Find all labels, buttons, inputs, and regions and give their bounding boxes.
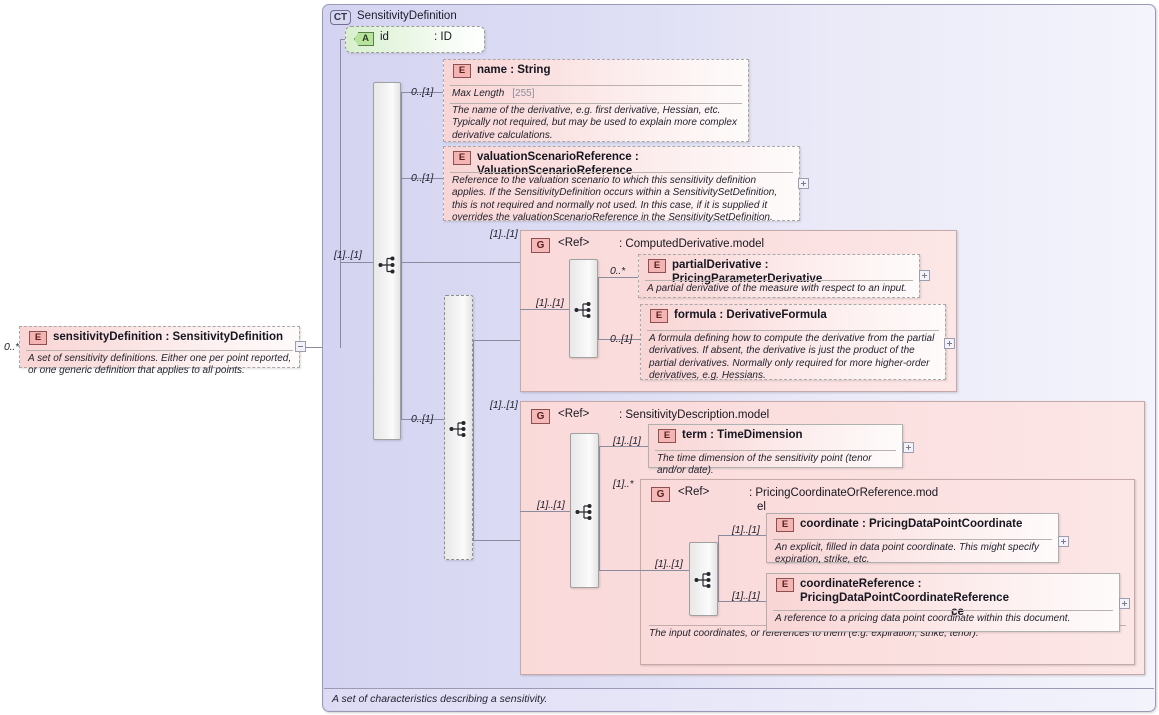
sequence-icon [694, 569, 716, 591]
divider [26, 350, 293, 351]
expand-toggle-coordinate[interactable] [1058, 536, 1069, 547]
element-valuation-scenario-reference[interactable]: E valuationScenarioReference : Valuation… [443, 146, 800, 221]
branch-to-partial-derivative [598, 277, 638, 278]
compositor-sequence-outer[interactable] [373, 82, 401, 440]
compositor-sequence-pcor[interactable] [689, 542, 718, 616]
divider [655, 450, 896, 451]
branch-nested-to-cd [473, 340, 520, 341]
element-header: E valuationScenarioReference : Valuation… [444, 147, 799, 170]
connector-to-cd-sequence [520, 309, 569, 310]
cardinality-name: 0..[1] [411, 86, 433, 98]
expand-toggle-term[interactable] [903, 442, 914, 453]
facet-value: [255] [504, 88, 534, 99]
element-documentation: The time dimension of the sensitivity po… [657, 453, 895, 478]
group-badge-icon: G [531, 238, 550, 253]
sequence-icon [575, 501, 597, 523]
group-type-line2: el [749, 501, 766, 513]
element-header: E partialDerivative : PricingParameterDe… [639, 255, 919, 278]
xsd-diagram-canvas: 0..* E sensitivityDefinition : Sensitivi… [0, 0, 1159, 715]
element-documentation: A formula defining how to compute the de… [649, 333, 938, 382]
element-badge-icon: E [648, 259, 666, 273]
group-type-label: : PricingCoordinateOrReference.mod el [749, 486, 1019, 514]
cardinality-cd-sequence: [1]..[1] [536, 297, 564, 309]
cardinality-formula: 0..[1] [610, 333, 632, 345]
attribute-id[interactable]: A id : ID [345, 26, 485, 53]
cardinality-outer-sequence: [1]..[1] [334, 249, 362, 261]
cardinality-coordinate: [1]..[1] [732, 524, 760, 536]
sequence-icon [378, 254, 400, 276]
divider [773, 610, 1113, 611]
branch-nested-to-sd [473, 540, 520, 541]
element-badge-icon: E [453, 151, 471, 165]
group-ref-label: <Ref> [558, 408, 589, 420]
collapse-toggle-root[interactable] [295, 341, 306, 352]
expand-toggle-valuation-scenario-reference[interactable] [798, 178, 809, 189]
element-header: E coordinateReference : PricingDataPoint… [767, 574, 1119, 605]
branch-trunk-nested [473, 340, 474, 540]
group-badge-icon: G [651, 487, 670, 502]
facet-label: Max Length [452, 88, 504, 99]
element-name[interactable]: E name : String Max Length[255] The name… [443, 59, 749, 142]
cardinality-term: [1]..[1] [613, 435, 641, 447]
element-sensitivity-definition[interactable]: E sensitivityDefinition : SensitivityDef… [19, 326, 300, 368]
element-partial-derivative[interactable]: E partialDerivative : PricingParameterDe… [638, 254, 920, 298]
connector-to-sd-sequence [520, 511, 570, 512]
group-ref-label: <Ref> [678, 486, 709, 498]
element-title: formula : DerivativeFormula [674, 308, 941, 322]
element-coordinate[interactable]: E coordinate : PricingDataPointCoordinat… [766, 513, 1059, 563]
attribute-badge-icon: A [354, 32, 374, 46]
branch-to-computed-derivative [401, 262, 520, 263]
element-documentation: Reference to the valuation scenario to w… [452, 175, 792, 224]
divider [773, 539, 1052, 540]
branch-trunk-sd [599, 446, 600, 570]
cardinality-partial-derivative: 0..* [610, 265, 625, 277]
attribute-type: : ID [434, 31, 452, 43]
element-documentation: A reference to a pricing data point coor… [775, 613, 1112, 625]
element-title-line1: coordinateReference : PricingDataPointCo… [800, 578, 1009, 604]
complex-type-badge-icon: CT [330, 10, 351, 25]
cardinality-valuation-scenario-reference: 0..[1] [411, 172, 433, 184]
cardinality-sd-sequence: [1]..[1] [537, 499, 565, 511]
cardinality-pcor-choice: [1]..[1] [655, 558, 683, 570]
divider [645, 280, 913, 281]
cardinality-coordinate-reference: [1]..[1] [732, 590, 760, 602]
group-type-label: : ComputedDerivative.model [619, 237, 764, 251]
element-header: E coordinate : PricingDataPointCoordinat… [767, 514, 1058, 537]
element-documentation: A partial derivative of the measure with… [647, 283, 912, 295]
element-title: valuationScenarioReference : ValuationSc… [477, 150, 795, 178]
element-badge-icon: E [658, 429, 676, 443]
element-documentation: The name of the derivative, e.g. first d… [452, 105, 741, 142]
divider [647, 330, 939, 331]
branch-trunk-cd [598, 277, 599, 339]
complex-type-footer: A set of characteristics describing a se… [324, 688, 1154, 710]
facet-max-length: Max Length[255] [452, 88, 535, 99]
element-title: coordinate : PricingDataPointCoordinate [800, 517, 1054, 531]
element-badge-icon: E [776, 518, 794, 532]
cardinality-sensitivity-description: [1]..[1] [490, 399, 518, 411]
cardinality-nested-sequence: 0..[1] [411, 413, 433, 425]
divider [450, 172, 793, 173]
element-badge-icon: E [29, 331, 47, 345]
element-header: E name : String [444, 60, 748, 83]
cardinality-computed-derivative: [1]..[1] [490, 228, 518, 240]
element-title: term : TimeDimension [682, 428, 898, 442]
element-coordinate-reference[interactable]: E coordinateReference : PricingDataPoint… [766, 573, 1120, 632]
element-header: E term : TimeDimension [649, 425, 902, 448]
expand-toggle-coordinate-reference[interactable] [1119, 598, 1130, 609]
complex-type-title: SensitivityDefinition [357, 10, 457, 22]
element-badge-icon: E [453, 64, 471, 78]
compositor-sequence-computed-derivative[interactable] [569, 259, 598, 358]
element-badge-icon: E [650, 309, 668, 323]
cardinality-root-element: 0..* [4, 341, 19, 353]
element-header: E formula : DerivativeFormula [641, 305, 945, 328]
group-ref-label: <Ref> [558, 237, 589, 249]
group-type-line1: : PricingCoordinateOrReference.mod [749, 487, 938, 499]
divider [450, 103, 742, 104]
cardinality-pricing-coordinate-or-reference: [1]..* [613, 478, 633, 490]
element-title: partialDerivative : PricingParameterDeri… [672, 258, 915, 286]
element-badge-icon: E [776, 578, 794, 592]
element-title: name : String [477, 63, 744, 77]
sequence-icon [574, 299, 596, 321]
compositor-sequence-nested[interactable] [444, 295, 473, 560]
element-term[interactable]: E term : TimeDimension The time dimensio… [648, 424, 903, 468]
element-formula[interactable]: E formula : DerivativeFormula A formula … [640, 304, 946, 380]
element-header: E sensitivityDefinition : SensitivityDef… [20, 327, 299, 350]
group-type-label: : SensitivityDescription.model [619, 408, 769, 422]
attribute-name: id [380, 31, 389, 43]
connector-sequence [340, 262, 373, 263]
connector-to-pcor-choice [640, 570, 689, 571]
element-documentation: An explicit, filled in data point coordi… [775, 542, 1051, 567]
branch-trunk-outer [401, 92, 402, 419]
element-title: sensitivityDefinition : SensitivityDefin… [53, 330, 295, 344]
sequence-icon [449, 418, 471, 440]
complex-type-documentation: A set of characteristics describing a se… [332, 693, 547, 705]
element-documentation: A set of sensitivity definitions. Either… [28, 353, 292, 378]
divider [450, 85, 742, 86]
branch-trunk-pcor [718, 535, 719, 601]
trunk-line [340, 39, 341, 348]
group-badge-icon: G [531, 409, 550, 424]
expand-toggle-formula[interactable] [944, 338, 955, 349]
branch-to-pcor [599, 570, 640, 571]
compositor-sequence-sensitivity-description[interactable] [570, 433, 599, 588]
expand-toggle-partial-derivative[interactable] [919, 270, 930, 281]
